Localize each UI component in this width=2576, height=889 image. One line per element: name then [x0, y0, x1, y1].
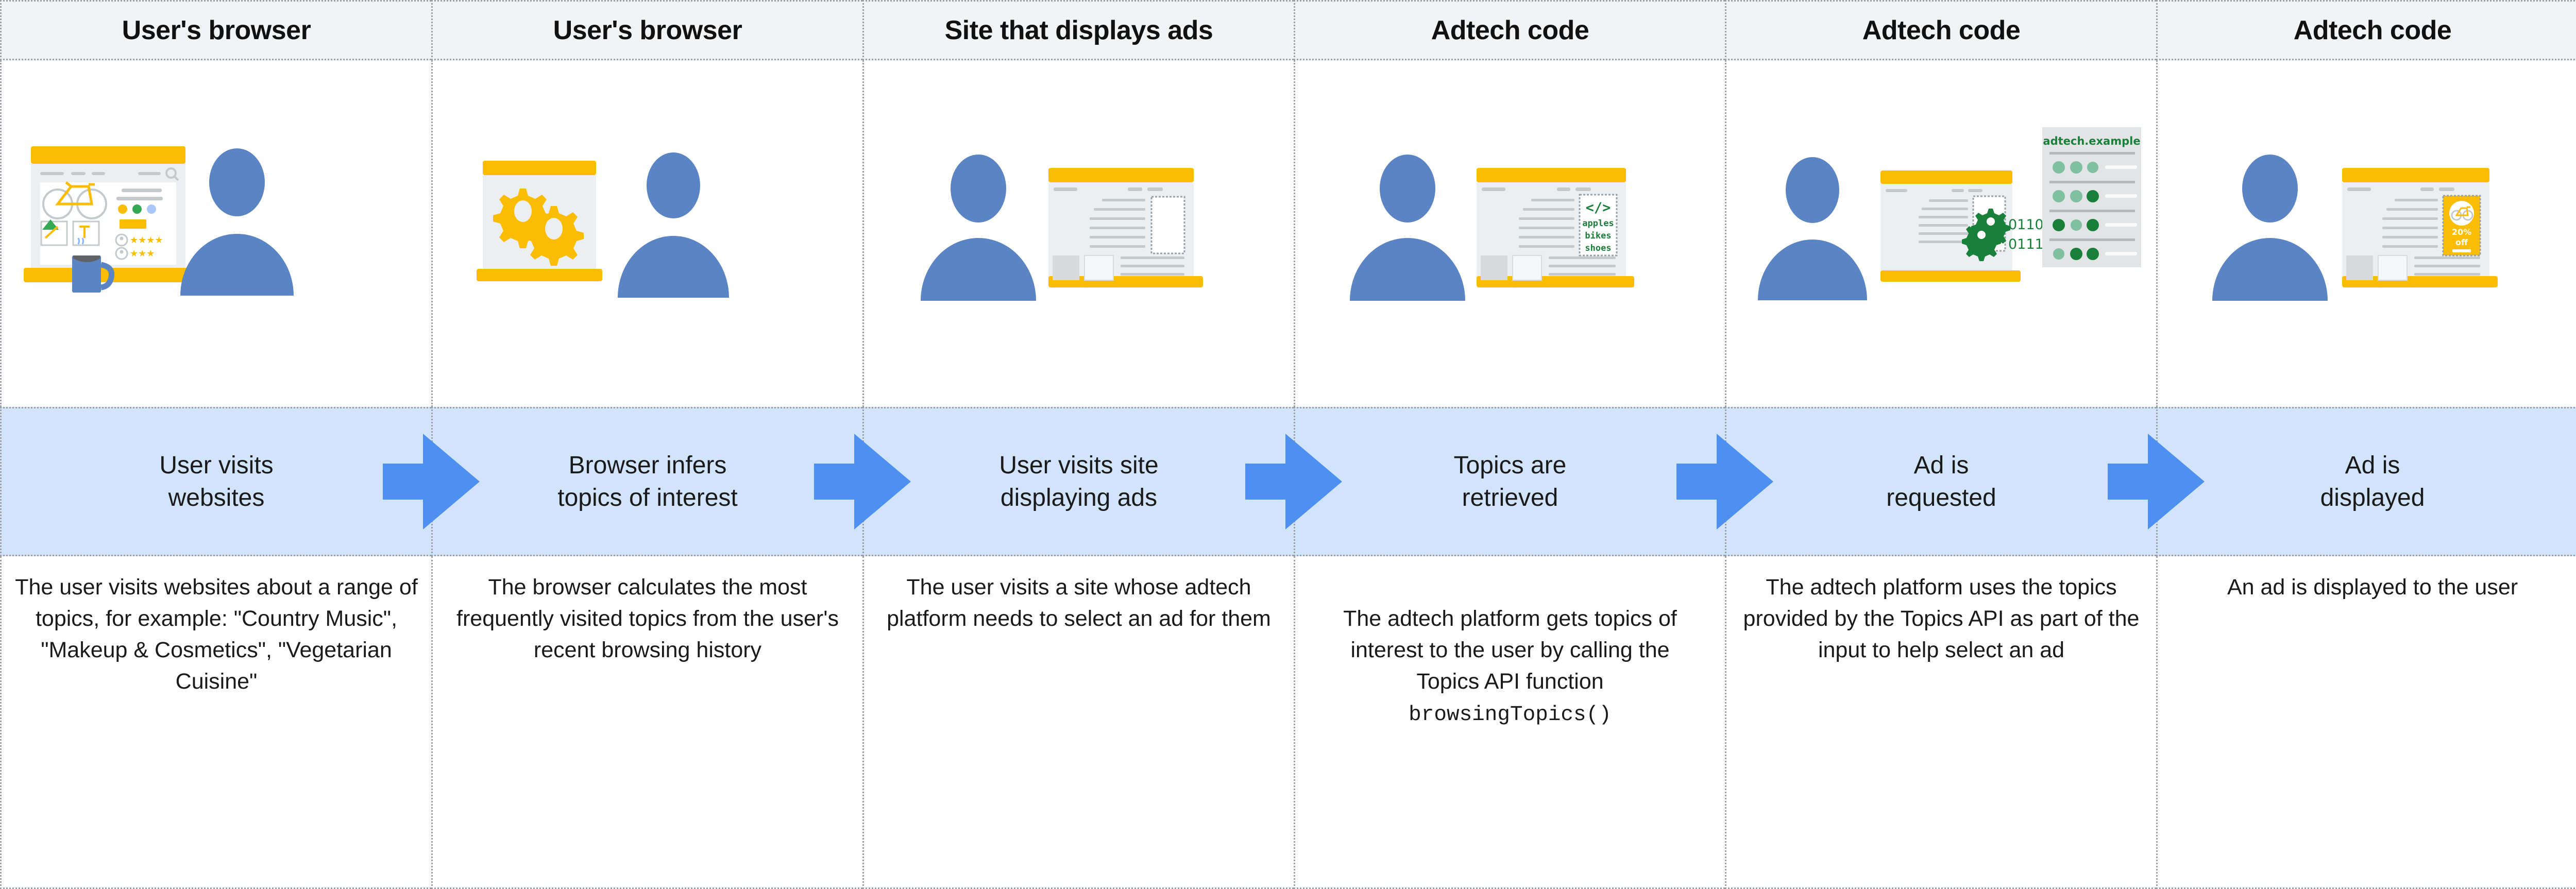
content-block	[1481, 255, 1507, 280]
person-browser-empty-ad-illustration	[875, 121, 1282, 347]
topic-label-apples: apples	[1582, 218, 1614, 229]
caption-cell-2: Browser infers topics of interest	[431, 407, 862, 556]
code-tag-icon: </>	[1586, 200, 1611, 216]
content-block	[1053, 255, 1079, 280]
content-block	[2346, 255, 2373, 280]
person-silhouette	[2212, 155, 2328, 301]
browser-title-bar	[1048, 168, 1194, 182]
illustration-cell-5: 0110 0111 adtech.example	[1725, 60, 2156, 407]
column-header-label: User's browser	[553, 15, 742, 46]
nav-line	[2439, 187, 2454, 191]
caption-label: User visits websites	[152, 449, 280, 515]
color-swatch-green	[132, 204, 142, 214]
detail-line	[116, 197, 163, 200]
adtech-server-panel: adtech.example	[2042, 127, 2141, 267]
nav-line	[1054, 187, 1077, 191]
caption-label: Ad is displayed	[2313, 449, 2432, 515]
column-header-2: User's browser	[431, 0, 862, 60]
description-cell-4: The adtech platform gets topics of inter…	[1294, 556, 1725, 889]
column-header-label: Adtech code	[1431, 15, 1589, 46]
svg-text:★★★: ★★★	[130, 248, 155, 259]
empty-ad-slot	[1151, 197, 1184, 253]
caption-cell-6: Ad is displayed	[2156, 407, 2576, 556]
nav-line	[1557, 187, 1570, 191]
nav-line	[2420, 187, 2434, 191]
gear-small-icon	[524, 206, 584, 266]
topics-api-flow-diagram: User's browser User's browser Site that …	[0, 0, 2576, 889]
illustration-cell-2	[431, 60, 862, 407]
panel-divider	[2049, 238, 2135, 241]
adtech-request-illustration: 0110 0111 adtech.example	[1735, 113, 2147, 355]
browser-title-bar	[1880, 170, 2012, 184]
thumbnail	[73, 221, 99, 245]
color-swatch-blue	[147, 204, 156, 214]
description-cell-1: The user visits websites about a range o…	[0, 556, 431, 889]
monitor-stand	[1880, 270, 2021, 282]
browser-title-bar	[31, 146, 185, 164]
column-header-label: Site that displays ads	[945, 15, 1213, 46]
browser-title-bar	[2342, 168, 2489, 182]
ad-cta-bar	[2452, 249, 2471, 252]
caption-cell-4: Topics are retrieved	[1294, 407, 1725, 556]
column-header-label: User's browser	[122, 15, 311, 46]
column-header-1: User's browser	[0, 0, 431, 60]
nav-line	[40, 172, 64, 175]
description-text-2: Topics API function	[1416, 669, 1603, 694]
caption-cell-1: User visits websites	[0, 407, 431, 556]
nav-line	[1952, 189, 1964, 192]
description-label: An ad is displayed to the user	[2158, 556, 2576, 603]
column-header-4: Adtech code	[1294, 0, 1725, 60]
nav-line	[92, 172, 105, 175]
description-cell-2: The browser calculates the most frequent…	[431, 556, 862, 889]
content-block	[1513, 255, 1541, 280]
svg-text:★★★★: ★★★★	[130, 235, 163, 246]
description-cell-6: An ad is displayed to the user	[2156, 556, 2576, 889]
color-swatch-yellow	[118, 204, 127, 214]
topic-label-bikes: bikes	[1585, 231, 1611, 241]
column-header-label: Adtech code	[2294, 15, 2452, 46]
illustration-cell-1: ★★★★ ★★★	[0, 60, 431, 407]
description-cell-3: The user visits a site whose adtech plat…	[862, 556, 1294, 889]
content-block	[1084, 255, 1113, 280]
description-text: The adtech platform gets topics of inter…	[1343, 606, 1677, 662]
nav-line	[71, 172, 86, 175]
description-label: The user visits websites about a range o…	[2, 556, 431, 697]
illustration-cell-6: 20% off	[2156, 60, 2576, 407]
caption-cell-5: Ad is requested	[1725, 407, 2156, 556]
column-header-6: Adtech code	[2156, 0, 2576, 60]
nav-line	[1886, 189, 1907, 192]
adtech-server-panel-title: adtech.example	[2043, 135, 2140, 147]
ad-discount-line-2: off	[2455, 237, 2468, 247]
browser-shopping-page-illustration: ★★★★ ★★★	[10, 121, 422, 347]
binary-line-2: 0111	[2008, 236, 2044, 252]
column-header-5: Adtech code	[1725, 0, 2156, 60]
panel-divider	[2049, 210, 2135, 212]
browser-title-bar	[1477, 168, 1626, 182]
browser-title-bar	[483, 161, 596, 175]
nav-line	[1482, 187, 1505, 191]
description-label: The adtech platform uses the topics prov…	[1726, 556, 2156, 666]
panel-divider	[2049, 181, 2135, 183]
person-silhouette	[180, 148, 294, 296]
topic-label-shoes: shoes	[1585, 243, 1611, 253]
caption-label: Ad is requested	[1879, 449, 2004, 515]
star-ratings-row-2: ★★★	[130, 248, 155, 259]
column-header-label: Adtech code	[1862, 15, 2021, 46]
panel-divider	[2049, 152, 2135, 155]
nav-line	[138, 172, 161, 175]
description-label: The browser calculates the most frequent…	[433, 556, 862, 666]
person-silhouette	[1350, 155, 1465, 301]
monitor-stand	[477, 269, 602, 281]
avatar-head	[120, 236, 124, 240]
caption-label: User visits site displaying ads	[992, 449, 1165, 515]
illustration-cell-3	[862, 60, 1294, 407]
buy-button	[120, 219, 146, 229]
binary-line-1: 0110	[2008, 217, 2044, 233]
description-cell-5: The adtech platform uses the topics prov…	[1725, 556, 2156, 889]
person-browser-code-topics-illustration: </> apples bikes shoes	[1307, 121, 1714, 347]
person-silhouette	[618, 152, 729, 298]
nav-line	[1968, 189, 1982, 192]
description-label-composite: The adtech platform gets topics of inter…	[1295, 556, 1725, 730]
nav-line	[2347, 187, 2371, 191]
description-label: The user visits a site whose adtech plat…	[864, 556, 1294, 635]
avatar-head	[120, 250, 124, 253]
person-silhouette	[1758, 157, 1867, 300]
description-code: browsingTopics()	[1409, 703, 1612, 727]
caption-cell-3: User visits site displaying ads	[862, 407, 1294, 556]
bicycle-ad-creative: 20% off	[2443, 196, 2480, 255]
nav-line	[1147, 187, 1163, 191]
browser-gears-illustration	[452, 121, 843, 347]
detail-line	[122, 189, 162, 192]
person-silhouette	[921, 155, 1036, 301]
ad-discount-line-1: 20%	[2452, 227, 2471, 237]
caption-label: Browser infers topics of interest	[550, 449, 745, 515]
illustration-cell-4: </> apples bikes shoes	[1294, 60, 1725, 407]
caption-label: Topics are retrieved	[1447, 449, 1574, 515]
ad-displayed-illustration: 20% off	[2169, 121, 2576, 347]
star-ratings-row-1: ★★★★	[130, 235, 163, 246]
nav-line	[1128, 187, 1142, 191]
nav-line	[1575, 187, 1591, 191]
column-header-3: Site that displays ads	[862, 0, 1294, 60]
content-block	[2378, 255, 2407, 280]
